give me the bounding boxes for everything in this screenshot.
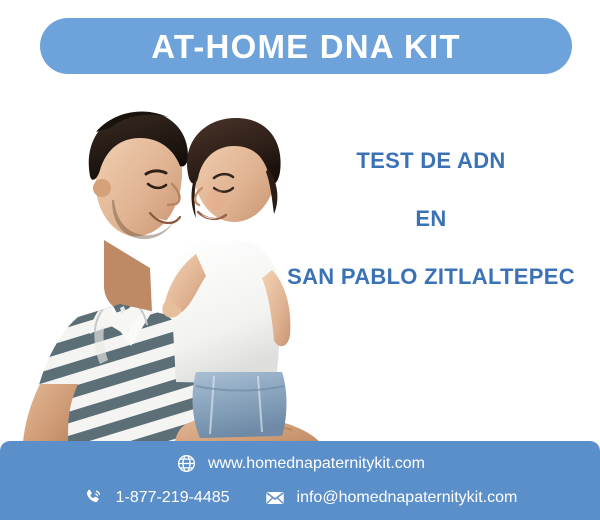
contact-phone[interactable]: 1-877-219-4485 bbox=[83, 487, 230, 509]
family-photo-image bbox=[0, 72, 330, 460]
family-photo bbox=[0, 72, 330, 460]
page-title: AT-HOME DNA KIT bbox=[151, 30, 460, 63]
phone-label: 1-877-219-4485 bbox=[116, 490, 230, 506]
email-label: info@homednapaternitykit.com bbox=[297, 490, 518, 506]
phone-icon bbox=[83, 487, 105, 509]
contact-email[interactable]: info@homednapaternitykit.com bbox=[264, 487, 518, 509]
poster-canvas: AT-HOME DNA KIT bbox=[0, 0, 600, 520]
website-label: www.homednapaternitykit.com bbox=[208, 456, 425, 472]
globe-icon bbox=[175, 453, 197, 475]
footer-row-phone-email: 1-877-219-4485 info@homednapaternitykit.… bbox=[83, 484, 518, 512]
envelope-icon bbox=[264, 487, 286, 509]
footer-row-website: www.homednapaternitykit.com bbox=[175, 450, 425, 478]
footer-contact-band: www.homednapaternitykit.com 1-877-219-44… bbox=[0, 441, 600, 520]
contact-website[interactable]: www.homednapaternitykit.com bbox=[175, 453, 425, 475]
header-banner: AT-HOME DNA KIT bbox=[40, 18, 572, 74]
